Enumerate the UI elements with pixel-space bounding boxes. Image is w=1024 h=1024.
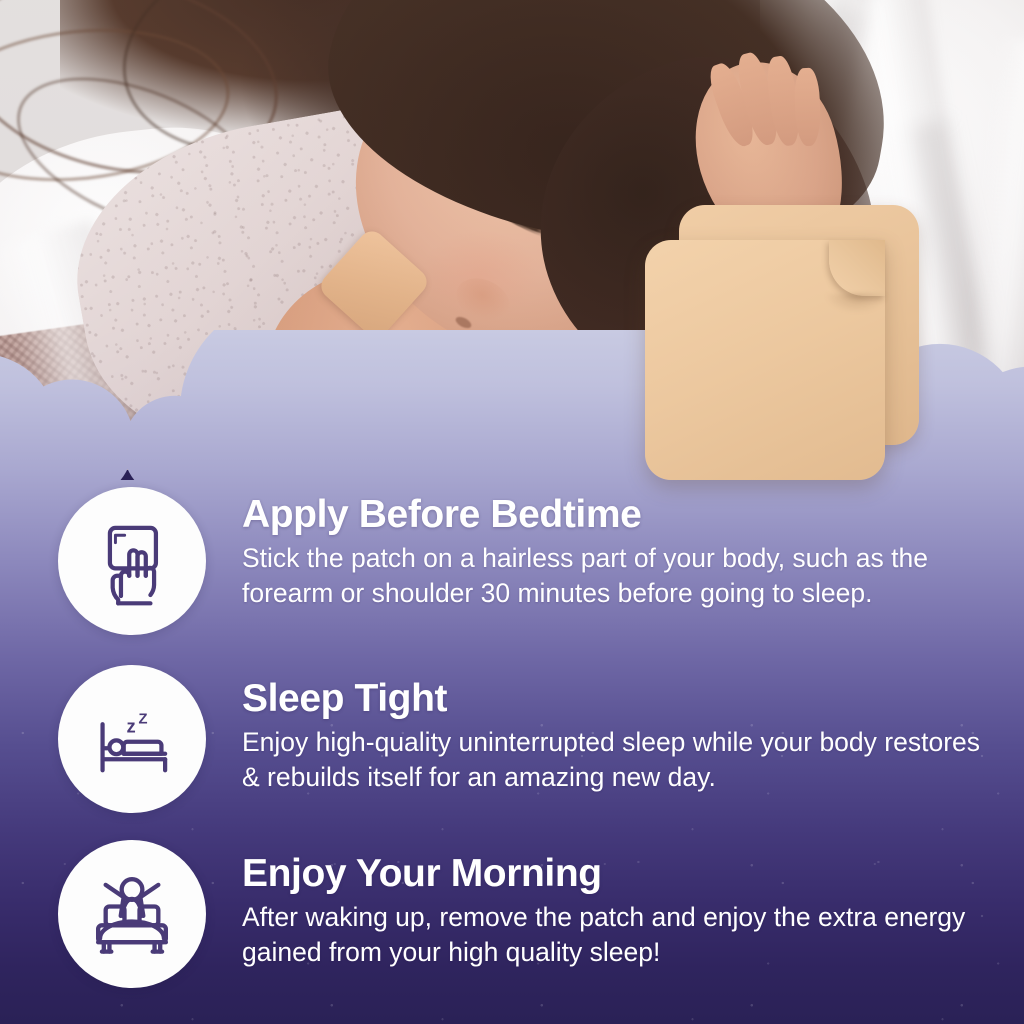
steps-list: Apply Before Bedtime Stick the patch on … (0, 0, 1024, 1024)
step-body: Enjoy high-quality uninterrupted sleep w… (242, 725, 982, 794)
step-text: Apply Before Bedtime Stick the patch on … (242, 487, 972, 610)
person-sleeping-in-bed-icon: z Z (58, 665, 206, 813)
person-stretching-awake-in-bed-icon (58, 840, 206, 988)
step-body: After waking up, remove the patch and en… (242, 900, 982, 969)
step-text: Enjoy Your Morning After waking up, remo… (242, 840, 982, 969)
step-heading: Apply Before Bedtime (242, 495, 972, 534)
step-item-enjoy-your-morning: Enjoy Your Morning After waking up, remo… (58, 840, 982, 988)
svg-text:z: z (126, 716, 135, 737)
step-heading: Sleep Tight (242, 679, 982, 718)
step-item-apply-before-bedtime: Apply Before Bedtime Stick the patch on … (58, 487, 972, 635)
step-heading: Enjoy Your Morning (242, 854, 982, 893)
infographic-stage: Apply Before Bedtime Stick the patch on … (0, 0, 1024, 1024)
step-body: Stick the patch on a hairless part of yo… (242, 541, 972, 610)
svg-text:Z: Z (138, 711, 147, 727)
step-text: Sleep Tight Enjoy high-quality uninterru… (242, 665, 982, 794)
step-item-sleep-tight: z Z Sleep Tight Enjoy high-quality unint… (58, 665, 982, 813)
hand-applying-patch-icon (58, 487, 206, 635)
